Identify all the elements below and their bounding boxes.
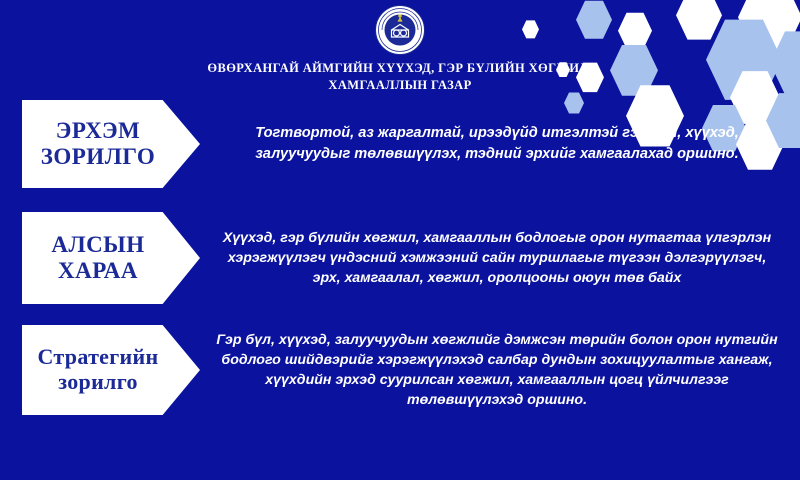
tag-label: ЭРХЭМ ЗОРИЛГО [22,118,174,170]
organization-title: ӨВӨРХАНГАЙ АЙМГИЙН ХҮҮХЭД, ГЭР БҮЛИЙН ХӨ… [165,60,635,94]
section-row-mission: ЭРХЭМ ЗОРИЛГО Тогтвортой, аз жаргалтай, … [0,100,800,188]
agency-emblem-icon [374,4,426,56]
tag-erhem-zorilgo: ЭРХЭМ ЗОРИЛГО [22,100,200,188]
vision-text: Хүүхэд, гэр бүлийн хөгжил, хамгааллын бо… [200,228,800,288]
tag-strategiin-zorilgo: Стратегийн зорилго [22,325,200,415]
section-row-strategic-goal: Стратегийн зорилго Гэр бүл, хүүхэд, залу… [0,325,800,415]
section-row-vision: АЛСЫН ХАРАА Хүүхэд, гэр бүлийн хөгжил, х… [0,212,800,304]
tag-label: Стратегийн зорилго [22,345,174,394]
header: ӨВӨРХАНГАЙ АЙМГИЙН ХҮҮХЭД, ГЭР БҮЛИЙН ХӨ… [0,0,800,94]
mission-text: Тогтвортой, аз жаргалтай, ирээдүйд итгэл… [200,123,800,165]
tag-alsyn-haraa: АЛСЫН ХАРАА [22,212,200,304]
tag-label: АЛСЫН ХАРАА [22,232,174,284]
slide-canvas: ӨВӨРХАНГАЙ АЙМГИЙН ХҮҮХЭД, ГЭР БҮЛИЙН ХӨ… [0,0,800,480]
strategic-goal-text: Гэр бүл, хүүхэд, залуучуудын хөгжлийг дэ… [200,330,800,411]
